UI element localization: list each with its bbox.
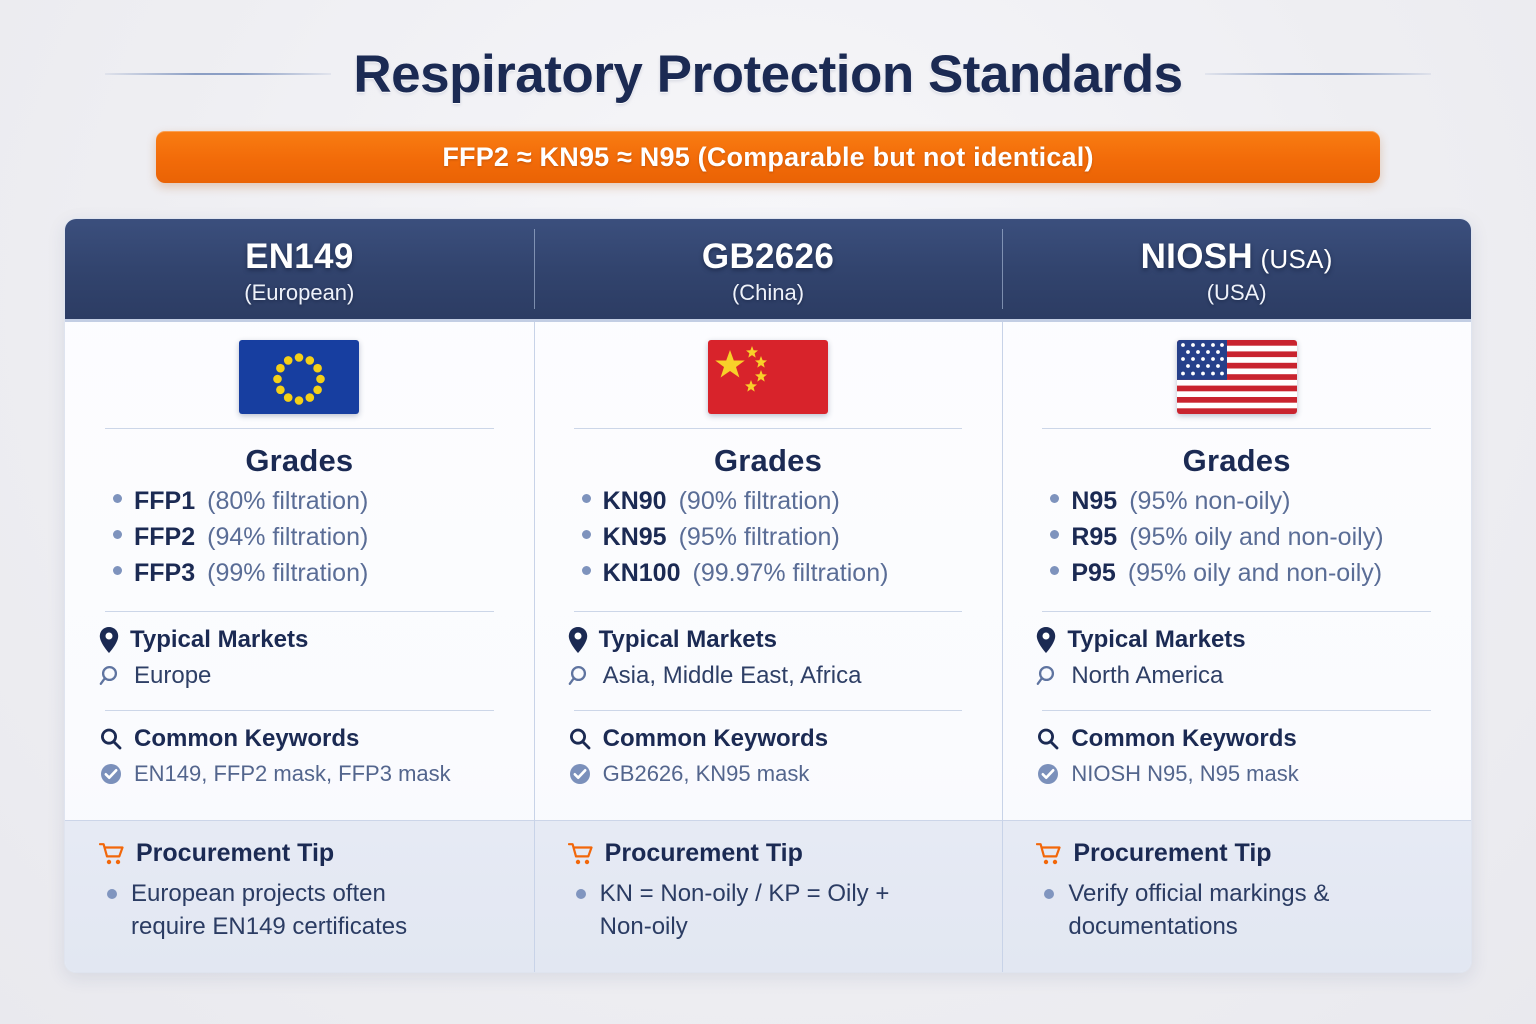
markets-heading: Typical Markets [99, 626, 500, 654]
grade-item: KN90 (90% filtration) [582, 487, 969, 516]
tip-heading: Procurement Tip [568, 839, 969, 868]
china-flag-icon [708, 340, 828, 414]
keywords-value-row: GB2626, KN95 mask [568, 761, 969, 787]
grade-desc: (80% filtration) [207, 487, 368, 516]
standard-name-text: EN149 [245, 237, 354, 276]
markets-value: Asia, Middle East, Africa [603, 662, 862, 690]
tip-label: Procurement Tip [605, 839, 803, 868]
keywords-label: Common Keywords [603, 725, 828, 753]
standard-name-gb2626: GB2626 [702, 237, 834, 277]
bullet-dot [1050, 566, 1059, 575]
column-gb2626: Grades KN90 (90% filtration) KN95 (95% f… [534, 322, 1003, 972]
tip-body: Verify official markings & documentation… [1036, 878, 1437, 943]
keywords-value: GB2626, KN95 mask [603, 761, 810, 787]
column-en149: Grades FFP1 (80% filtration) FFP2 (94% f… [65, 322, 534, 972]
flag-wrap-gb2626 [568, 340, 969, 428]
standard-name-niosh: NIOSH (USA) [1141, 237, 1333, 277]
grade-item: FFP1 (80% filtration) [113, 487, 500, 516]
keywords-value-row: EN149, FFP2 mask, FFP3 mask [99, 761, 500, 787]
section-divider [105, 428, 494, 429]
column-header-strip: EN149 (European) GB2626 (China) NIOSH (U… [65, 219, 1471, 322]
eu-flag-icon [239, 340, 359, 414]
markets-value-row: North America [1036, 662, 1437, 690]
tip-body: KN = Non-oily / KP = Oily + Non-oily [568, 878, 969, 943]
bullet-dot [1050, 530, 1059, 539]
procurement-tip-en149: Procurement Tip European projects often … [65, 820, 534, 972]
bullet-dot [1044, 889, 1054, 899]
grade-desc: (99.97% filtration) [693, 559, 889, 588]
column-header-en149: EN149 (European) [65, 219, 534, 319]
grades-title-en149: Grades [99, 443, 500, 479]
grade-item: FFP2 (94% filtration) [113, 523, 500, 552]
map-pin-icon [99, 627, 119, 653]
standard-name-en149: EN149 [245, 237, 354, 277]
page-title: Respiratory Protection Standards [353, 44, 1182, 105]
grade-item: P95 (95% oily and non-oily) [1050, 559, 1437, 588]
grade-item: KN95 (95% filtration) [582, 523, 969, 552]
keywords-value: NIOSH N95, N95 mask [1071, 761, 1298, 787]
check-circle-icon [99, 762, 123, 786]
section-divider [1042, 428, 1431, 429]
bullet-dot [107, 889, 117, 899]
grade-item: FFP3 (99% filtration) [113, 559, 500, 588]
grade-desc: (94% filtration) [207, 523, 368, 552]
grade-desc: (95% non-oily) [1129, 487, 1290, 516]
bullet-dot [113, 530, 122, 539]
search-icon [99, 727, 123, 751]
procurement-tip-gb2626: Procurement Tip KN = Non-oily / KP = Oil… [534, 820, 1003, 972]
title-rule-left [105, 73, 331, 75]
shopping-cart-icon [1036, 842, 1062, 866]
keywords-heading: Common Keywords [99, 725, 500, 753]
tip-value: Verify official markings & documentation… [1068, 878, 1398, 943]
grade-code: R95 [1071, 523, 1117, 552]
check-circle-icon [568, 762, 592, 786]
grade-desc: (90% filtration) [679, 487, 840, 516]
section-divider [574, 428, 963, 429]
markets-value-row: Asia, Middle East, Africa [568, 662, 969, 690]
grade-desc: (95% filtration) [679, 523, 840, 552]
keywords-label: Common Keywords [134, 725, 359, 753]
usa-flag-icon [1177, 340, 1297, 414]
standard-name-text: GB2626 [702, 237, 834, 276]
standard-region-en149: (European) [244, 280, 354, 306]
china-flag-svg [708, 340, 828, 414]
tip-value: KN = Non-oily / KP = Oily + Non-oily [600, 878, 930, 943]
markets-section-niosh: Typical Markets North America [1036, 612, 1437, 690]
column-header-niosh: NIOSH (USA) (USA) [1002, 219, 1471, 319]
grades-list-gb2626: KN90 (90% filtration) KN95 (95% filtrati… [582, 487, 969, 595]
grade-code: N95 [1071, 487, 1117, 516]
grades-list-niosh: N95 (95% non-oily) R95 (95% oily and non… [1050, 487, 1437, 595]
grade-code: P95 [1071, 559, 1115, 588]
bullet-dot [113, 566, 122, 575]
markets-label: Typical Markets [1067, 626, 1245, 654]
grade-code: FFP3 [134, 559, 195, 588]
title-row: Respiratory Protection Standards [0, 38, 1536, 110]
column-niosh: Grades N95 (95% non-oily) R95 (95% oily … [1002, 322, 1471, 972]
column-header-gb2626: GB2626 (China) [534, 219, 1003, 319]
map-pin-icon [568, 627, 588, 653]
keywords-section-en149: Common Keywords EN149, FFP2 mask, FFP3 m… [99, 711, 500, 787]
grade-desc: (95% oily and non-oily) [1128, 559, 1382, 588]
keywords-value-row: NIOSH N95, N95 mask [1036, 761, 1437, 787]
eu-flag-svg [239, 340, 359, 414]
search-icon [1036, 727, 1060, 751]
shopping-cart-icon [99, 842, 125, 866]
flag-wrap-niosh [1036, 340, 1437, 428]
flag-wrap-en149 [99, 340, 500, 428]
grade-code: KN100 [603, 559, 681, 588]
standard-region-gb2626: (China) [732, 280, 804, 306]
tip-label: Procurement Tip [136, 839, 334, 868]
grades-title-gb2626: Grades [568, 443, 969, 479]
markets-heading: Typical Markets [1036, 626, 1437, 654]
map-pin-icon [1036, 627, 1056, 653]
keywords-section-niosh: Common Keywords NIOSH N95, N95 mask [1036, 711, 1437, 787]
standard-name-text: NIOSH [1141, 237, 1253, 276]
usa-flag-svg [1177, 340, 1297, 414]
markets-section-gb2626: Typical Markets Asia, Middle East, Afric… [568, 612, 969, 690]
magnifier-icon [99, 664, 123, 688]
grade-code: FFP1 [134, 487, 195, 516]
markets-section-en149: Typical Markets Europe [99, 612, 500, 690]
standard-name-suffix: (USA) [1253, 244, 1333, 274]
markets-label: Typical Markets [130, 626, 308, 654]
keywords-value: EN149, FFP2 mask, FFP3 mask [134, 761, 451, 787]
grades-title-niosh: Grades [1036, 443, 1437, 479]
grade-desc: (95% oily and non-oily) [1129, 523, 1383, 552]
standard-region-niosh: (USA) [1207, 280, 1267, 306]
bullet-dot [113, 494, 122, 503]
comparison-columns: Grades FFP1 (80% filtration) FFP2 (94% f… [65, 322, 1471, 972]
markets-heading: Typical Markets [568, 626, 969, 654]
title-rule-right [1205, 73, 1431, 75]
grade-item: KN100 (99.97% filtration) [582, 559, 969, 588]
keywords-section-gb2626: Common Keywords GB2626, KN95 mask [568, 711, 969, 787]
tip-label: Procurement Tip [1073, 839, 1271, 868]
tip-heading: Procurement Tip [1036, 839, 1437, 868]
grade-desc: (99% filtration) [207, 559, 368, 588]
grade-code: KN90 [603, 487, 667, 516]
bullet-dot [582, 530, 591, 539]
bullet-dot [582, 494, 591, 503]
grade-code: KN95 [603, 523, 667, 552]
keywords-heading: Common Keywords [568, 725, 969, 753]
check-circle-icon [1036, 762, 1060, 786]
markets-value: Europe [134, 662, 211, 690]
bullet-dot [1050, 494, 1059, 503]
grade-code: FFP2 [134, 523, 195, 552]
tip-body: European projects often require EN149 ce… [99, 878, 500, 943]
search-icon [568, 727, 592, 751]
grade-item: N95 (95% non-oily) [1050, 487, 1437, 516]
shopping-cart-icon [568, 842, 594, 866]
grades-list-en149: FFP1 (80% filtration) FFP2 (94% filtrati… [113, 487, 500, 595]
magnifier-icon [1036, 664, 1060, 688]
tip-heading: Procurement Tip [99, 839, 500, 868]
equivalence-banner-text: FFP2 ≈ KN95 ≈ N95 (Comparable but not id… [442, 142, 1093, 173]
bullet-dot [582, 566, 591, 575]
procurement-tip-niosh: Procurement Tip Verify official markings… [1002, 820, 1471, 972]
bullet-dot [576, 889, 586, 899]
markets-label: Typical Markets [599, 626, 777, 654]
keywords-label: Common Keywords [1071, 725, 1296, 753]
grade-item: R95 (95% oily and non-oily) [1050, 523, 1437, 552]
markets-value: North America [1071, 662, 1223, 690]
standards-comparison-card: EN149 (European) GB2626 (China) NIOSH (U… [64, 218, 1472, 973]
magnifier-icon [568, 664, 592, 688]
keywords-heading: Common Keywords [1036, 725, 1437, 753]
equivalence-banner: FFP2 ≈ KN95 ≈ N95 (Comparable but not id… [156, 131, 1380, 183]
markets-value-row: Europe [99, 662, 500, 690]
tip-value: European projects often require EN149 ce… [131, 878, 461, 943]
